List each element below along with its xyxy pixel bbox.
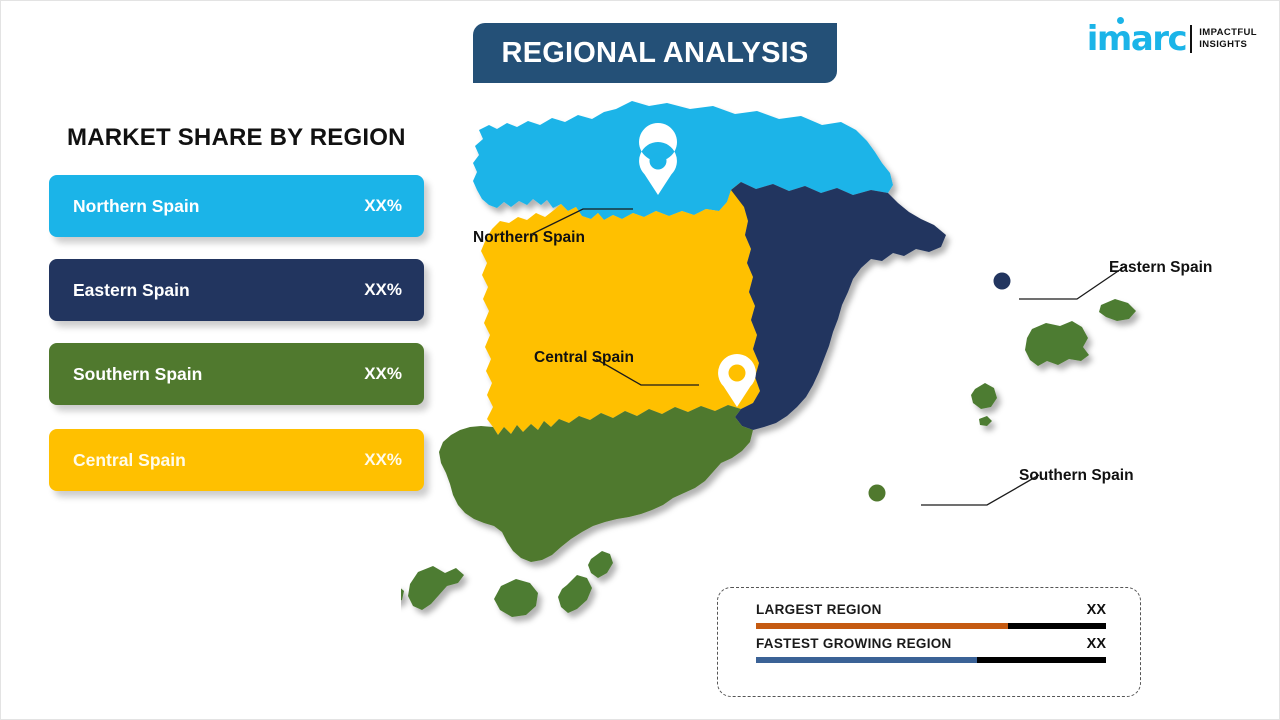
summary-value: XX	[1087, 602, 1106, 618]
summary-progress-track	[756, 657, 1106, 663]
summary-label: FASTEST GROWING REGION	[756, 636, 952, 651]
logo-tagline-line1: IMPACTFUL	[1199, 27, 1257, 39]
share-bar-label: Northern Spain	[73, 196, 364, 217]
map-island-grancanaria	[494, 579, 538, 617]
summary-progress-fill	[756, 657, 977, 663]
map-region-central[interactable]	[481, 182, 760, 435]
map-island-tenerife	[408, 566, 464, 610]
map-island-formentera	[979, 416, 992, 426]
map-region-eastern[interactable]	[731, 182, 946, 430]
share-bar-northern-spain[interactable]: Northern Spain XX%	[49, 175, 424, 237]
map-region-southern[interactable]	[439, 405, 753, 562]
map-label-eastern-spain: Eastern Spain	[1109, 259, 1212, 277]
summary-row-fastest-growing-region: FASTEST GROWING REGION XX	[756, 636, 1106, 663]
spain-region-map	[401, 89, 1201, 669]
slide-canvas: REGIONAL ANALYSIS imarc IMPACTFUL INSIGH…	[0, 0, 1280, 720]
summary-box: LARGEST REGION XX FASTEST GROWING REGION…	[717, 587, 1141, 697]
share-bar-label: Central Spain	[73, 450, 364, 471]
map-island-lanzarote	[588, 551, 613, 578]
map-label-southern-spain: Southern Spain	[1019, 467, 1134, 485]
share-bar-southern-spain[interactable]: Southern Spain XX%	[49, 343, 424, 405]
summary-progress-fill	[756, 623, 1008, 629]
logo-wordmark: imarc	[1087, 22, 1186, 56]
logo-tagline-line2: INSIGHTS	[1199, 39, 1257, 51]
market-share-heading: MARKET SHARE BY REGION	[67, 124, 406, 152]
share-bar-value: XX%	[364, 196, 402, 216]
map-pin-southern[interactable]	[858, 474, 896, 527]
share-bar-eastern-spain[interactable]: Eastern Spain XX%	[49, 259, 424, 321]
logo-tagline: IMPACTFUL INSIGHTS	[1199, 27, 1257, 51]
page-title-banner: REGIONAL ANALYSIS	[473, 23, 837, 83]
map-island-fuerteventura	[558, 575, 592, 613]
summary-label: LARGEST REGION	[756, 602, 882, 617]
map-island-ibiza	[971, 383, 997, 409]
page-title: REGIONAL ANALYSIS	[502, 37, 809, 70]
summary-row-largest-region: LARGEST REGION XX	[756, 602, 1106, 629]
map-pin-eastern[interactable]	[983, 262, 1021, 315]
imarc-logo: imarc IMPACTFUL INSIGHTS	[1087, 19, 1257, 59]
share-bar-value: XX%	[364, 450, 402, 470]
share-bar-value: XX%	[364, 364, 402, 384]
share-bar-value: XX%	[364, 280, 402, 300]
logo-divider	[1190, 25, 1192, 53]
map-island-mallorca	[1025, 321, 1089, 366]
summary-value: XX	[1087, 636, 1106, 652]
summary-progress-track	[756, 623, 1106, 629]
map-label-central-spain: Central Spain	[534, 349, 634, 367]
map-island-menorca	[1099, 299, 1136, 321]
share-bar-central-spain[interactable]: Central Spain XX%	[49, 429, 424, 491]
map-label-northern-spain: Northern Spain	[473, 229, 585, 247]
share-bar-label: Eastern Spain	[73, 280, 364, 301]
logo-dot-icon	[1117, 17, 1124, 24]
map-island-gomera	[401, 585, 404, 603]
share-bar-label: Southern Spain	[73, 364, 364, 385]
